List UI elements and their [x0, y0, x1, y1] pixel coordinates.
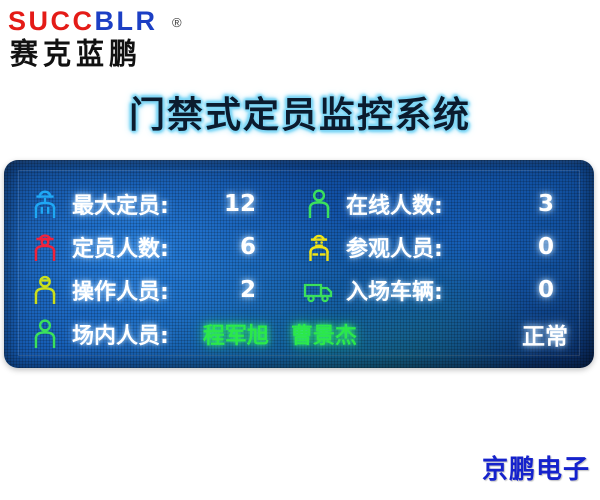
led-field-visitor-count: 参观人员: 0 [292, 225, 580, 268]
led-label: 定员人数: [72, 231, 169, 263]
status-badge: 正常 [522, 317, 568, 351]
led-label: 参观人员: [346, 231, 443, 263]
person-icon [302, 188, 336, 220]
led-value: 6 [240, 234, 256, 260]
led-field-operator-count: 操作人员: 2 [4, 268, 292, 311]
led-value: 12 [224, 191, 256, 217]
led-display-panel: 最大定员: 12 在线人数: 3 [4, 160, 594, 368]
led-row: 最大定员: 12 在线人数: 3 [4, 182, 594, 225]
personnel-name: 程军旭 [203, 318, 269, 350]
footer-brand-label: 京鹏电子 [482, 449, 590, 486]
led-label: 操作人员: [72, 274, 169, 306]
logo-wordmark-blr: BLR [95, 6, 158, 36]
personnel-name: 曹景杰 [291, 318, 357, 350]
led-row: 操作人员: 2 入场车辆: 0 [4, 268, 594, 311]
screenshot-root: SUCCBLR ® 赛克蓝鹏 门禁式定员监控系统 [0, 0, 600, 500]
logo-chinese-name: 赛克蓝鹏 [10, 40, 142, 69]
led-label: 在线人数: [346, 188, 443, 220]
logo-wordmark-succ: SUCC [8, 6, 95, 36]
truck-icon [302, 274, 336, 306]
company-logo: SUCCBLR ® 赛克蓝鹏 [8, 8, 208, 70]
person-visitor-icon [302, 231, 336, 263]
led-row: 定员人数: 6 [4, 225, 594, 268]
led-value: 0 [538, 277, 554, 303]
led-value: 2 [240, 277, 256, 303]
led-label: 场内人员: [72, 318, 169, 350]
led-field-online-count: 在线人数: 3 [292, 182, 580, 225]
led-label: 入场车辆: [346, 274, 443, 306]
led-row-onsite-personnel: 场内人员: 程军旭 曹景杰 正常 [4, 311, 594, 357]
led-rows: 最大定员: 12 在线人数: 3 [4, 182, 594, 357]
led-field-vehicle-count: 入场车辆: 0 [292, 268, 580, 311]
onsite-personnel-names: 程军旭 曹景杰 [203, 318, 357, 350]
person-operator-icon [28, 274, 62, 306]
led-label: 最大定员: [72, 188, 169, 220]
page-title: 门禁式定员监控系统 [0, 86, 600, 138]
led-field-max-capacity: 最大定员: 12 [4, 182, 292, 225]
registered-trademark-icon: ® [172, 15, 182, 30]
led-field-assigned-count: 定员人数: 6 [4, 225, 292, 268]
person-hardhat-icon [28, 231, 62, 263]
person-hardhat-icon [28, 188, 62, 220]
person-icon [28, 318, 62, 350]
led-value: 0 [538, 234, 554, 260]
led-value: 3 [538, 191, 554, 217]
